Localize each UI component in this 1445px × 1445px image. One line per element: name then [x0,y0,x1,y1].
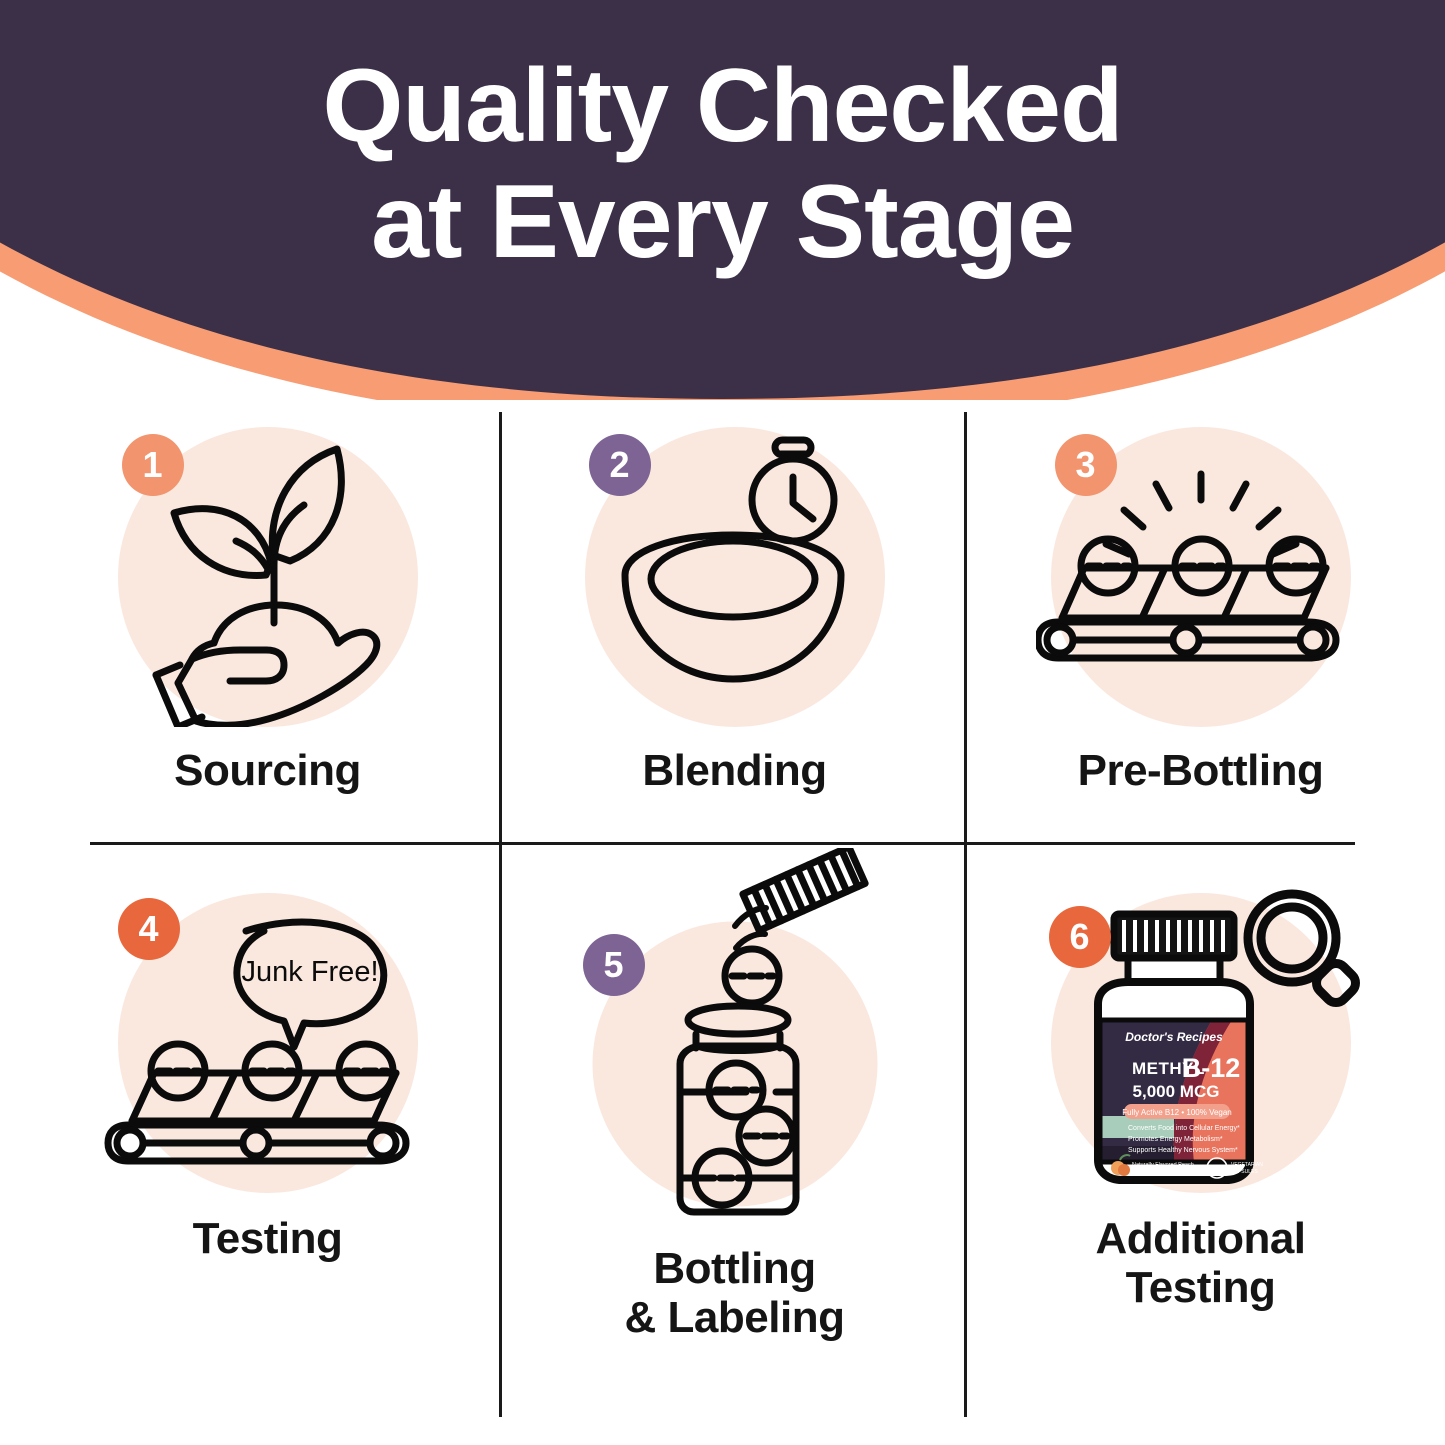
step-number-4: 4 [138,911,158,947]
title-line-2: at Every Stage [0,164,1445,280]
step-6-caption: Additional Testing [1095,1214,1305,1313]
label-name-main: B-12 [1181,1053,1240,1083]
step-1-caption: Sourcing [174,746,361,795]
step-card-testing: 4 Junk Free! [35,878,500,1308]
bottle-cap [1114,914,1234,982]
step-number-badge-5: 5 [583,934,645,996]
tablet-icon [151,1044,205,1098]
label-benefit-2: Promotes Energy Metabolism* [1128,1136,1223,1143]
step-number-6: 6 [1069,919,1089,955]
label-dosage: 5,000 MCG [1132,1082,1219,1101]
bottle-cap-icon [742,848,864,931]
svg-text:CAPSULES: CAPSULES [1231,1169,1258,1175]
step-5-artwork: 5 [555,848,915,1248]
label-benefit-1: Converts Food into Cellular Energy* [1128,1125,1240,1132]
tablet-icon [725,949,779,1003]
step-4-caption: Testing [193,1214,343,1263]
label-count: 90 [1211,1164,1223,1175]
step-5-caption: Bottling & Labeling [625,1244,845,1343]
step-3-artwork: 3 [1021,412,1381,742]
step-number-badge-2: 2 [589,434,651,496]
step-number-5: 5 [603,947,623,983]
steps-grid: 1 [0,400,1445,1445]
step-card-sourcing: 1 [35,412,500,842]
label-benefit-3: Supports Healthy Nervous System* [1128,1147,1238,1154]
tablet-icon [739,1109,793,1163]
tablet-icon [245,1044,299,1098]
step-number-badge-4: 4 [118,898,180,960]
tablet-icon [1175,539,1229,593]
step-2-caption: Blending [642,746,826,795]
step-6-artwork: 6 [1021,878,1381,1208]
step-2-artwork: 2 [555,412,915,742]
step-number-3: 3 [1075,447,1095,483]
magnifier-icon [1248,894,1360,1007]
step-card-additional-testing: 6 [968,878,1433,1308]
label-brand: Doctor's Recipes [1125,1030,1223,1044]
label-tagline: Fully Active B12 • 100% Vegan [1122,1108,1232,1117]
jar-with-cap-icon [570,848,900,1248]
step-number-2: 2 [609,447,629,483]
step-1-artwork: 1 [88,412,448,742]
header-banner: Quality Checked at Every Stage [0,0,1445,400]
step-number-badge-6: 6 [1049,906,1111,968]
divider-horizontal [90,842,1355,845]
step-card-pre-bottling: 3 [968,412,1433,842]
step-card-bottling-labeling: 5 [502,848,967,1278]
tablet-icon [339,1044,393,1098]
page-title: Quality Checked at Every Stage [0,48,1445,281]
tablet-icon [695,1151,749,1205]
stopwatch-sub-icon [752,440,834,541]
speech-bubble-text: Junk Free! [241,956,378,988]
title-line-1: Quality Checked [323,48,1123,164]
label-footer-note-2: Dietary Supplement [1132,1169,1181,1175]
step-card-blending: 2 Blending [502,412,967,842]
step-3-caption: Pre-Bottling [1078,746,1324,795]
step-number-badge-3: 3 [1055,434,1117,496]
svg-text:VEGETARIAN: VEGETARIAN [1231,1162,1263,1168]
step-number-badge-1: 1 [122,434,184,496]
label-footer-note-1: Naturally Flavored Peach [1132,1162,1194,1168]
step-number-1: 1 [142,447,162,483]
step-4-artwork: 4 Junk Free! [88,878,448,1208]
